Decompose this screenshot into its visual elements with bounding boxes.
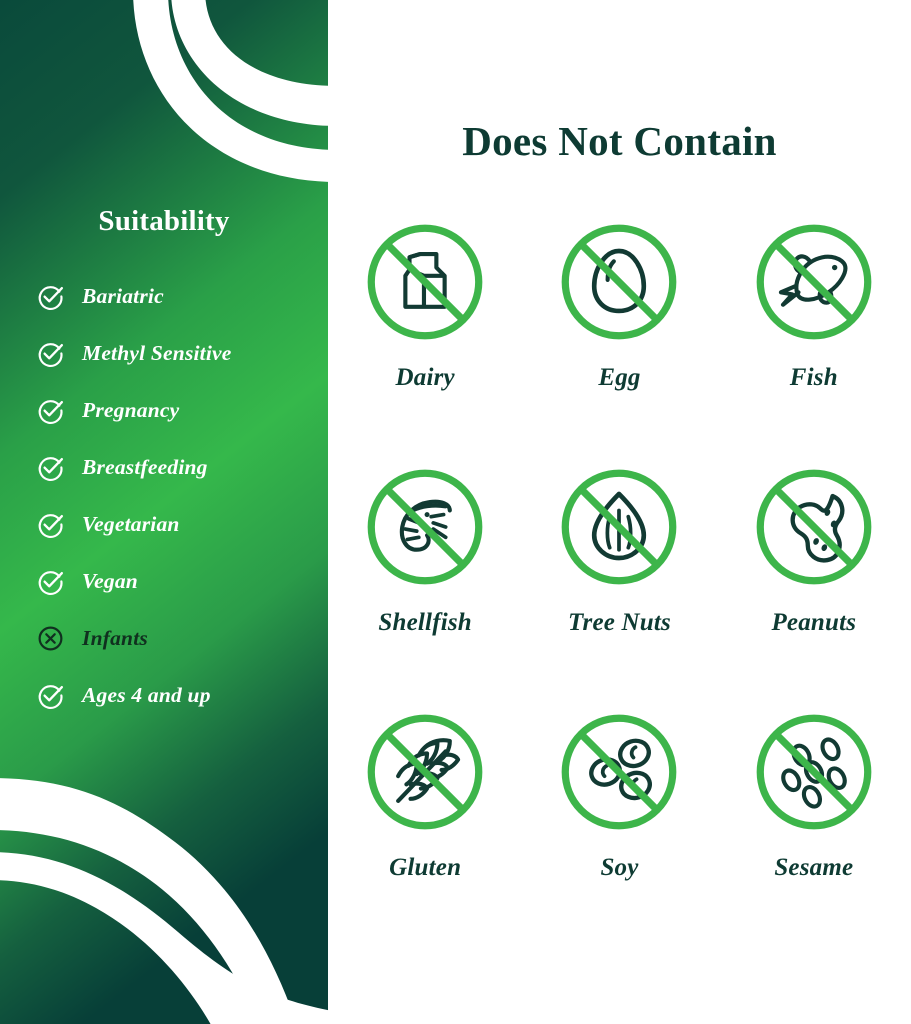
allergen-item-dairy: Dairy [328,220,522,465]
allergen-item-shellfish: Shellfish [328,465,522,710]
allergen-item-peanuts: Peanuts [717,465,911,710]
check-circle-icon [36,567,65,596]
allergen-item-tree-nuts: Tree Nuts [522,465,716,710]
does-not-contain-title: Does Not Contain [328,117,911,165]
soybean-icon [557,710,681,834]
allergen-label: Peanuts [771,609,856,637]
allergen-grid: Dairy Egg [328,220,911,955]
check-circle-icon [36,282,65,311]
wheat-icon [363,710,487,834]
allergen-label: Fish [790,364,838,392]
check-circle-icon [36,453,65,482]
suitability-item-label: Vegetarian [82,512,180,537]
allergen-label: Egg [598,364,640,392]
allergen-item-egg: Egg [522,220,716,465]
fish-icon [752,220,876,344]
check-circle-icon [36,396,65,425]
allergen-item-fish: Fish [717,220,911,465]
suitability-item-ages-4-and-up: Ages 4 and up [36,667,328,724]
does-not-contain-panel: Does Not Contain Dairy [328,0,911,1024]
peanut-icon [752,465,876,589]
allergen-label: Tree Nuts [568,609,671,637]
allergen-label: Sesame [774,854,853,882]
prohibition-slash [581,489,657,565]
suitability-item-label: Ages 4 and up [82,683,211,708]
x-circle-icon [36,624,65,653]
prohibition-slash [387,489,463,565]
suitability-item-vegetarian: Vegetarian [36,496,328,553]
suitability-item-label: Breastfeeding [82,455,208,480]
suitability-item-breastfeeding: Breastfeeding [36,439,328,496]
milk-carton-icon [363,220,487,344]
suitability-item-label: Infants [82,626,148,651]
egg-icon [557,220,681,344]
suitability-item-label: Bariatric [82,284,164,309]
suitability-item-label: Pregnancy [82,398,179,423]
allergen-item-sesame: Sesame [717,710,911,955]
suitability-allergen-infographic: Suitability Bariatric Methyl [0,0,911,1024]
shrimp-icon [363,465,487,589]
allergen-item-gluten: Gluten [328,710,522,955]
suitability-item-infants: Infants [36,610,328,667]
suitability-item-label: Vegan [82,569,138,594]
allergen-label: Soy [600,854,638,882]
check-circle-icon [36,339,65,368]
suitability-item-label: Methyl Sensitive [82,341,232,366]
check-circle-icon [36,681,65,710]
suitability-item-methyl-sensitive: Methyl Sensitive [36,325,328,382]
check-circle-icon [36,510,65,539]
allergen-label: Gluten [389,854,461,882]
almond-icon [557,465,681,589]
allergen-label: Shellfish [378,609,472,637]
allergen-item-soy: Soy [522,710,716,955]
allergen-label: Dairy [396,364,455,392]
suitability-content: Suitability Bariatric Methyl [0,0,328,1024]
suitability-list: Bariatric Methyl Sensitive P [36,268,328,724]
sesame-seeds-icon [752,710,876,834]
suitability-item-vegan: Vegan [36,553,328,610]
suitability-panel: Suitability Bariatric Methyl [0,0,328,1024]
suitability-item-pregnancy: Pregnancy [36,382,328,439]
suitability-title: Suitability [0,205,328,238]
suitability-item-bariatric: Bariatric [36,268,328,325]
